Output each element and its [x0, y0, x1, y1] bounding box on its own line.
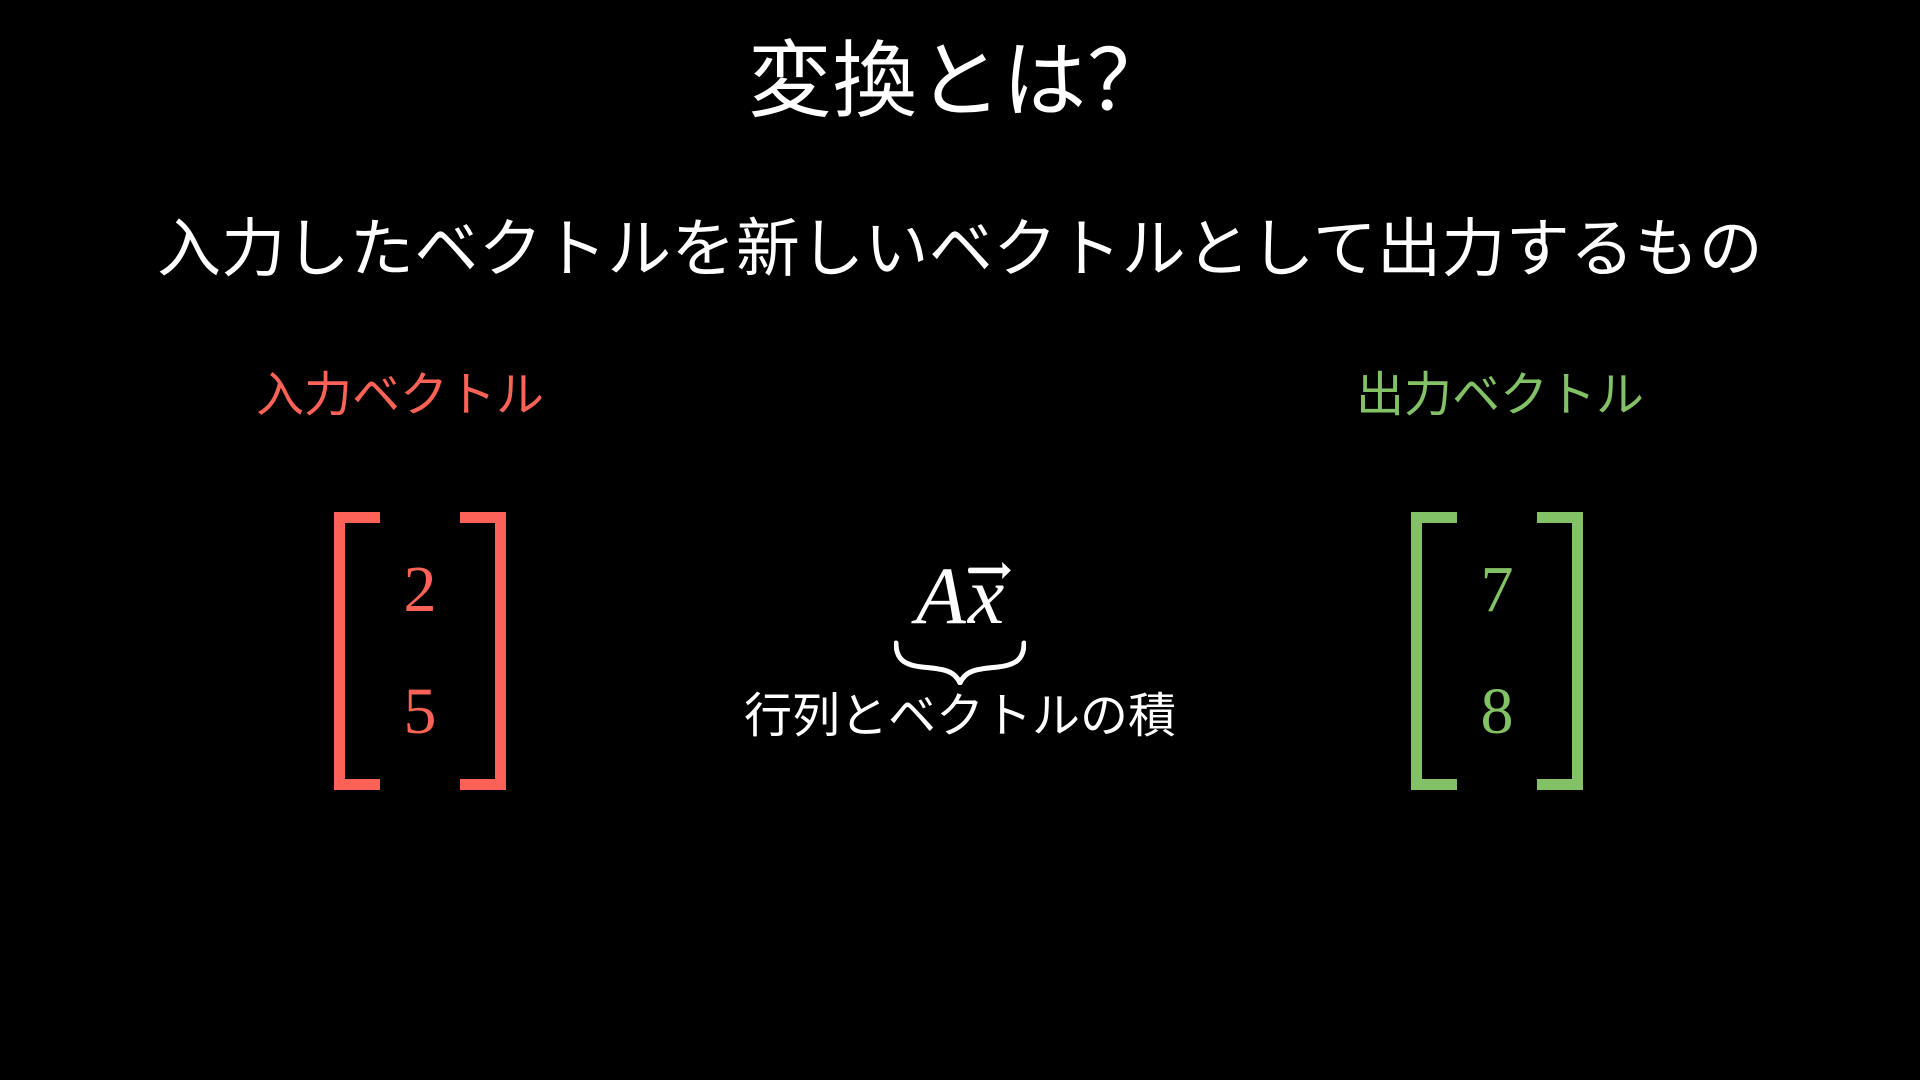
expression-caption: 行列とベクトルの積 — [660, 689, 1260, 744]
output-vector-label: 出力ベクトル — [1240, 370, 1760, 423]
vector-symbol-x-letter: x — [968, 550, 1004, 641]
center-expression-group: Ax 行列とベクトルの積 — [660, 555, 1260, 744]
output-vector-entries: 7 8 — [1367, 512, 1627, 790]
output-vector: 7 8 — [1367, 512, 1627, 790]
matrix-symbol-a: A — [916, 550, 966, 641]
input-vector-entry-0: 2 — [404, 557, 437, 623]
input-vector-label: 入力ベクトル — [160, 370, 640, 423]
page-title: 変換とは？ — [0, 38, 1920, 129]
input-vector: 2 5 — [290, 512, 550, 790]
matrix-vector-expression: Ax — [916, 555, 1005, 637]
slide-canvas: 変換とは？ 入力したベクトルを新しいベクトルとして出力するもの 入力ベクトル 出… — [0, 0, 1920, 1080]
vector-symbol-x: x — [966, 555, 1004, 637]
input-vector-entry-1: 5 — [404, 679, 437, 745]
page-subtitle: 入力したベクトルを新しいベクトルとして出力するもの — [0, 215, 1920, 285]
input-vector-entries: 2 5 — [290, 512, 550, 790]
output-vector-entry-1: 8 — [1481, 679, 1514, 745]
underbrace-icon — [894, 639, 1026, 685]
output-vector-entry-0: 7 — [1481, 557, 1514, 623]
